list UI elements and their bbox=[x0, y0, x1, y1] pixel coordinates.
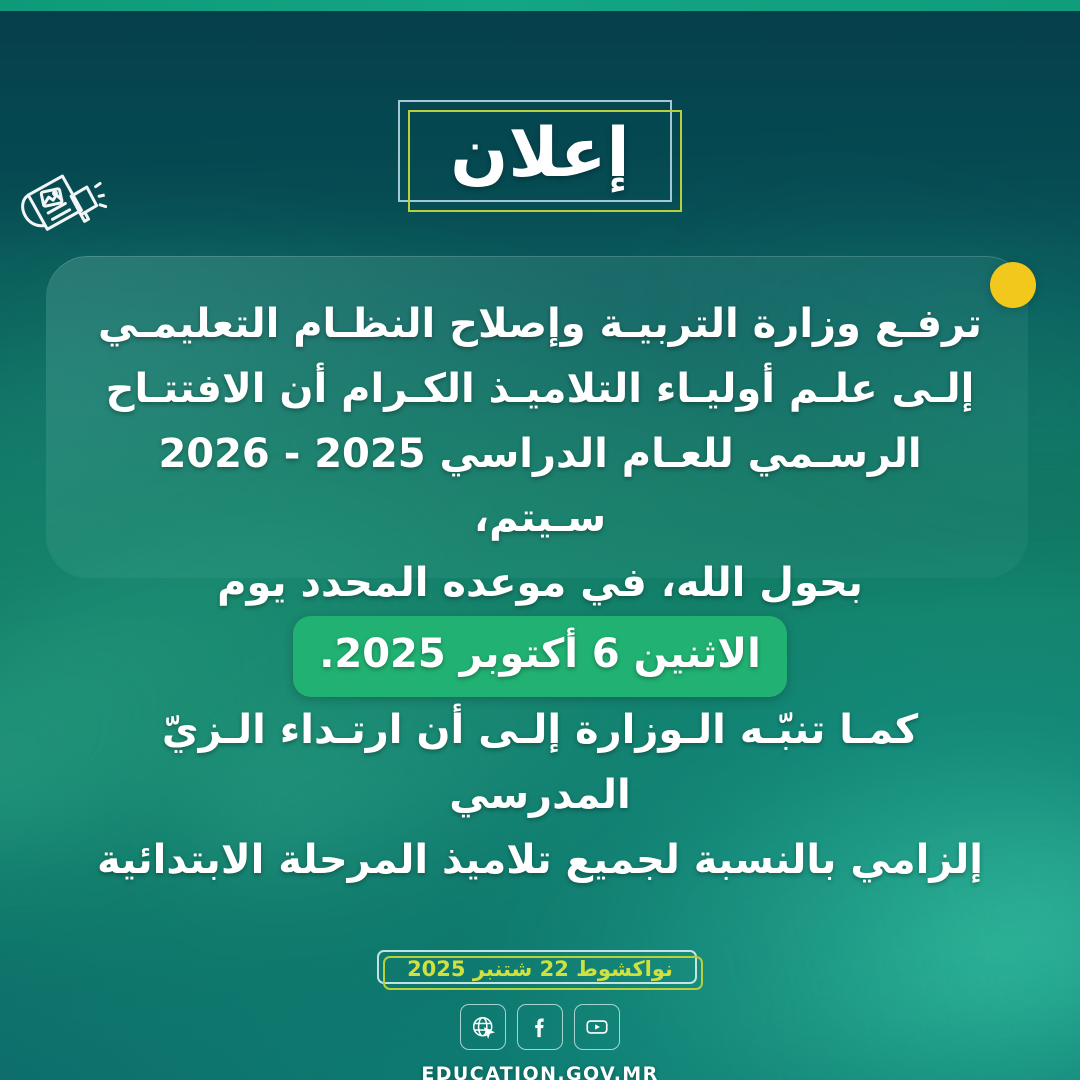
globe-cursor-icon bbox=[470, 1014, 497, 1041]
website-url: EDUCATION.GOV.MR bbox=[421, 1063, 658, 1080]
top-accent-strip bbox=[0, 0, 1080, 11]
paragraph-line: إلزامي بالنسبة لجميع تلاميذ المرحلة الاب… bbox=[86, 828, 994, 893]
announcement-paragraph-2: كمـا تنبّـه الـوزارة إلـى أن ارتـداء الـ… bbox=[86, 698, 994, 892]
headline-container: إعلان bbox=[0, 100, 1080, 212]
announcement-paragraph-1: ترفـع وزارة التربيـة وإصلاح النظـام التع… bbox=[86, 292, 994, 697]
facebook-icon bbox=[527, 1014, 553, 1040]
paragraph-line: إلـى علـم أوليـاء التلاميـذ الكـرام أن ا… bbox=[86, 357, 994, 422]
paragraph-line: الرسـمي للعـام الدراسي 2025 - 2026 سـيتم… bbox=[86, 422, 994, 552]
date-highlight-pill: الاثنين 6 أكتوبر 2025. bbox=[293, 616, 787, 697]
paragraph-line: كمـا تنبّـه الـوزارة إلـى أن ارتـداء الـ… bbox=[86, 698, 994, 828]
paragraph-line: بحول الله، في موعده المحدد يوم bbox=[86, 551, 994, 616]
youtube-icon bbox=[584, 1014, 610, 1040]
paragraph-line: ترفـع وزارة التربيـة وإصلاح النظـام التع… bbox=[86, 292, 994, 357]
footer-date-text: نواكشوط 22 شتنبر 2025 bbox=[407, 957, 673, 981]
youtube-link[interactable] bbox=[574, 1004, 620, 1050]
footer: نواكشوط 22 شتنبر 2025 bbox=[0, 950, 1080, 1080]
yellow-dot bbox=[990, 262, 1036, 308]
website-link[interactable] bbox=[460, 1004, 506, 1050]
page-title: إعلان bbox=[450, 114, 629, 194]
facebook-link[interactable] bbox=[517, 1004, 563, 1050]
footer-date-badge: نواكشوط 22 شتنبر 2025 bbox=[377, 950, 703, 990]
announcement-poster: إعلان ترفـع وزارة التربيـة وإصلاح النظـا… bbox=[0, 0, 1080, 1080]
headline-badge: إعلان bbox=[398, 100, 681, 212]
highlight-line: الاثنين 6 أكتوبر 2025. bbox=[86, 616, 994, 697]
social-links bbox=[460, 1004, 620, 1050]
